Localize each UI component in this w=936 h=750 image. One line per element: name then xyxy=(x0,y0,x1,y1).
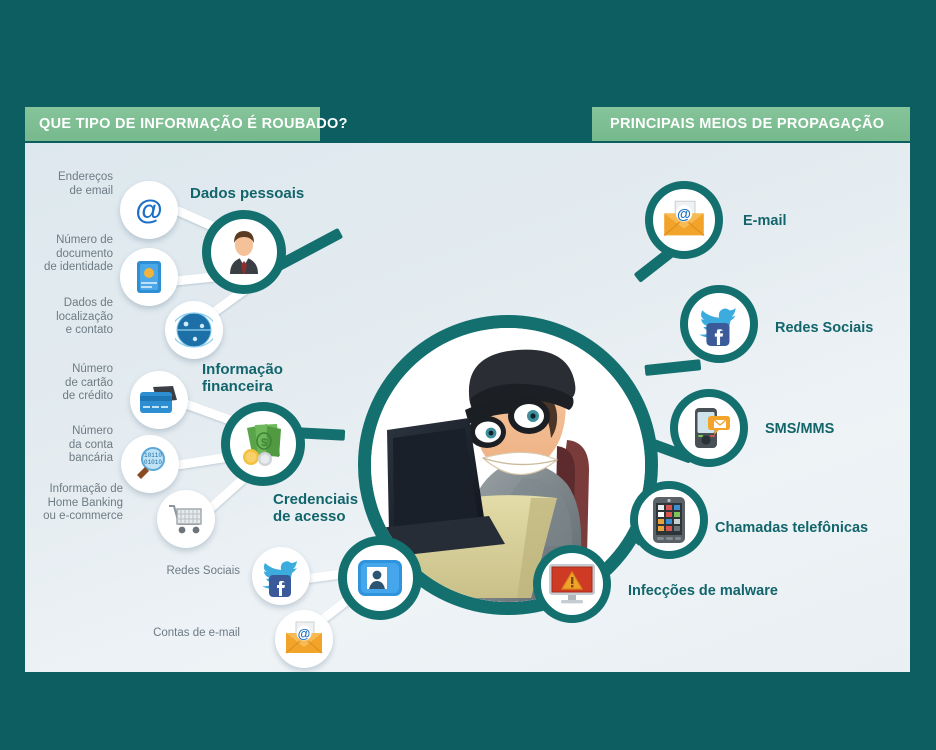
propagation-node-redes-sociais[interactable] xyxy=(680,285,758,363)
id-card-badge-icon xyxy=(356,558,404,598)
credit-card-icon xyxy=(139,384,179,416)
phone-message-icon xyxy=(687,406,731,450)
item-node[interactable]: @ xyxy=(275,610,333,668)
item-node[interactable]: 10110 01010 xyxy=(121,435,179,493)
email-envelope-icon: @ xyxy=(284,621,324,657)
header-banner-left: QUE TIPO DE INFORMAÇÃO É ROUBADO? xyxy=(25,107,320,141)
propagation-node-chamadas-telefonicas[interactable] xyxy=(630,481,708,559)
svg-text:@: @ xyxy=(298,626,311,641)
id-document-icon xyxy=(136,260,162,294)
category-label-dados-pessoais: Dados pessoais xyxy=(190,185,304,202)
infographic-root: QUE TIPO DE INFORMAÇÃO É ROUBADO? PRINCI… xyxy=(0,0,936,750)
infographic-panel: Dados pessoais Endereços de email @ Núme… xyxy=(25,143,910,672)
magnifier-data-icon: 10110 01010 xyxy=(132,446,168,482)
svg-text:@: @ xyxy=(135,194,162,225)
category-label-credenciais-de-acesso: Credenciais de acesso xyxy=(273,491,358,525)
connector-line-main xyxy=(644,359,701,376)
item-label: Número de cartão de crédito xyxy=(35,363,113,404)
item-label: Dados de localização e contato xyxy=(35,297,113,338)
svg-text:$: $ xyxy=(261,437,267,449)
propagation-label-sms-mms: SMS/MMS xyxy=(765,421,834,438)
businessman-icon xyxy=(220,228,268,276)
propagation-label-infeccoes-de-malware: Infecções de malware xyxy=(628,583,778,600)
item-label: Endereços de email xyxy=(35,171,113,198)
svg-text:@: @ xyxy=(677,207,691,223)
svg-text:10110: 10110 xyxy=(144,452,162,459)
propagation-node-infeccoes-de-malware[interactable] xyxy=(533,545,611,623)
propagation-label-chamadas-telefonicas: Chamadas telefônicas xyxy=(715,520,868,537)
item-label: Contas de e-mail xyxy=(140,627,240,641)
at-sign-icon: @ xyxy=(132,193,166,227)
email-envelope-icon: @ xyxy=(662,200,706,240)
propagation-node-email[interactable]: @ xyxy=(645,181,723,259)
category-node-informacao-financeira[interactable]: $ xyxy=(221,402,305,486)
item-label: Número de documento de identidade xyxy=(25,234,113,275)
category-node-credenciais-de-acesso[interactable] xyxy=(338,536,422,620)
item-node[interactable] xyxy=(157,490,215,548)
header-banner-right: PRINCIPAIS MEIOS DE PROPAGAÇÃO xyxy=(592,107,910,141)
propagation-label-redes-sociais: Redes Sociais xyxy=(775,320,873,337)
twitter-facebook-icon xyxy=(698,302,740,346)
item-node[interactable] xyxy=(252,547,310,605)
smartphone-icon xyxy=(652,496,686,544)
monitor-warning-icon xyxy=(548,563,596,605)
category-label-informacao-financeira: Informação financeira xyxy=(202,361,283,395)
header-left-title: QUE TIPO DE INFORMAÇÃO É ROUBADO? xyxy=(39,116,348,132)
item-label: Número da conta bancária xyxy=(35,425,113,466)
shopping-cart-icon xyxy=(167,502,205,536)
twitter-facebook-icon xyxy=(261,555,301,597)
item-label: Redes Sociais xyxy=(140,565,240,579)
svg-text:01010: 01010 xyxy=(144,459,162,466)
item-node[interactable] xyxy=(165,301,223,359)
item-node[interactable]: @ xyxy=(120,181,178,239)
header-right-title: PRINCIPAIS MEIOS DE PROPAGAÇÃO xyxy=(610,116,884,132)
item-node[interactable] xyxy=(130,371,188,429)
propagation-node-sms-mms[interactable] xyxy=(670,389,748,467)
category-node-dados-pessoais[interactable] xyxy=(202,210,286,294)
banknotes-coins-icon: $ xyxy=(237,422,289,466)
propagation-label-email: E-mail xyxy=(743,213,787,230)
item-node[interactable] xyxy=(120,248,178,306)
globe-icon xyxy=(175,311,213,349)
item-label: Informação de Home Banking ou e-commerce xyxy=(25,483,123,524)
